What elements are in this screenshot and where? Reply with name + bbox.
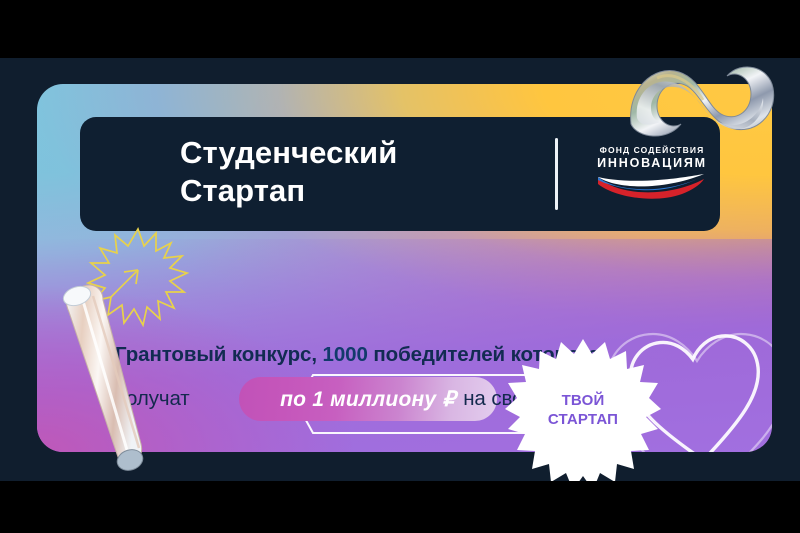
result-starburst-badge: ТВОЙ СТАРТАП [505, 339, 661, 495]
headline-winner-count: 1000 [323, 343, 368, 366]
fasie-logo-line-2: ИННОВАЦИЯМ [596, 156, 708, 170]
letterbox-bottom [0, 481, 800, 533]
screenshot-stage: Студенческий Стартап ФОНД СОДЕЙСТВИЯ ИНН… [0, 0, 800, 533]
result-line-1: ТВОЙ [505, 391, 661, 410]
infinity-ribbon-icon [617, 54, 789, 158]
letterbox-top [0, 0, 800, 58]
title-line-2: Стартап [180, 172, 397, 210]
glass-loop-icon [45, 278, 169, 478]
page-title: Студенческий Стартап [180, 134, 397, 210]
result-line-2: СТАРТАП [505, 410, 661, 429]
result-starburst-label: ТВОЙ СТАРТАП [505, 391, 661, 429]
title-line-1: Студенческий [180, 134, 397, 172]
banner-divider [555, 138, 558, 210]
russian-flag-swoosh-icon [596, 173, 708, 204]
